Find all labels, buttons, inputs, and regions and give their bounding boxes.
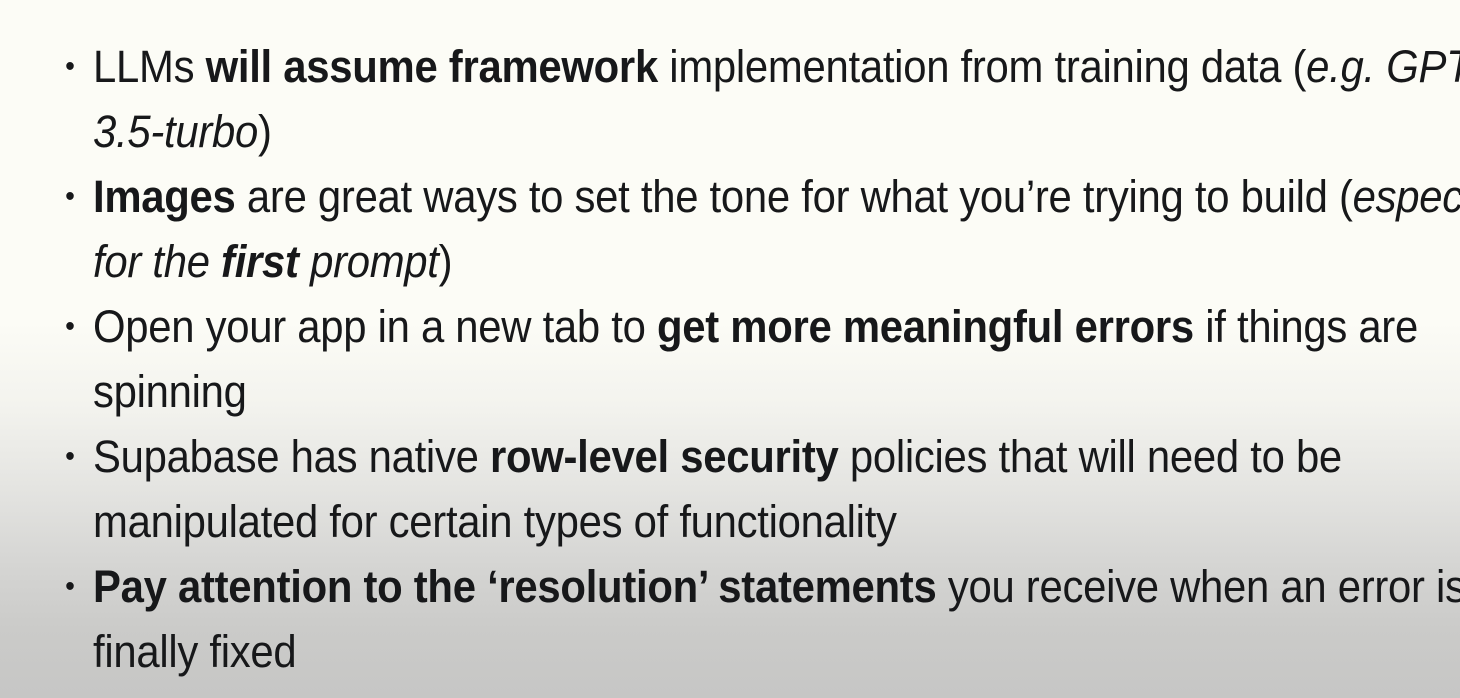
bullet-text: Supabase has native row-level security p… <box>93 424 1460 554</box>
text-run: get more meaningful errors <box>657 301 1194 352</box>
bullet-supabase-row-level-security: •Supabase has native row-level security … <box>0 424 1460 554</box>
slide-canvas: •LLMs will assume framework implementati… <box>0 0 1460 698</box>
text-run: Pay attention to the ‘resolution’ statem… <box>93 561 936 612</box>
text-run: Images <box>93 171 236 222</box>
bullet-text: LLMs will assume framework implementatio… <box>93 34 1460 164</box>
bullet-list: •LLMs will assume framework implementati… <box>0 34 1460 684</box>
bullet-open-app-new-tab: •Open your app in a new tab to get more … <box>0 294 1460 424</box>
bullet-text: Images are great ways to set the tone fo… <box>93 164 1460 294</box>
bullet-point-icon: • <box>65 164 77 229</box>
text-run: are great ways to set the tone for what … <box>236 171 1353 222</box>
bullet-point-icon: • <box>65 294 77 359</box>
text-run: row-level security <box>490 431 839 482</box>
bullet-text: Pay attention to the ‘resolution’ statem… <box>93 554 1460 684</box>
bullet-images-set-tone: •Images are great ways to set the tone f… <box>0 164 1460 294</box>
bullet-point-icon: • <box>65 554 77 619</box>
bullet-resolution-statements: •Pay attention to the ‘resolution’ state… <box>0 554 1460 684</box>
text-run: prompt <box>299 236 439 287</box>
bullet-text: Open your app in a new tab to get more m… <box>93 294 1460 424</box>
text-run: will assume framework <box>206 41 658 92</box>
text-run: first <box>221 236 299 287</box>
text-run: ) <box>439 236 453 287</box>
text-run: Open your app in a new tab to <box>93 301 657 352</box>
bullet-point-icon: • <box>65 424 77 489</box>
bullet-point-icon: • <box>65 34 77 99</box>
text-run: ) <box>258 106 272 157</box>
text-run: Supabase has native <box>93 431 490 482</box>
text-run: LLMs <box>93 41 206 92</box>
text-run: implementation from training data ( <box>658 41 1306 92</box>
bullet-llms-assume-framework: •LLMs will assume framework implementati… <box>0 34 1460 164</box>
